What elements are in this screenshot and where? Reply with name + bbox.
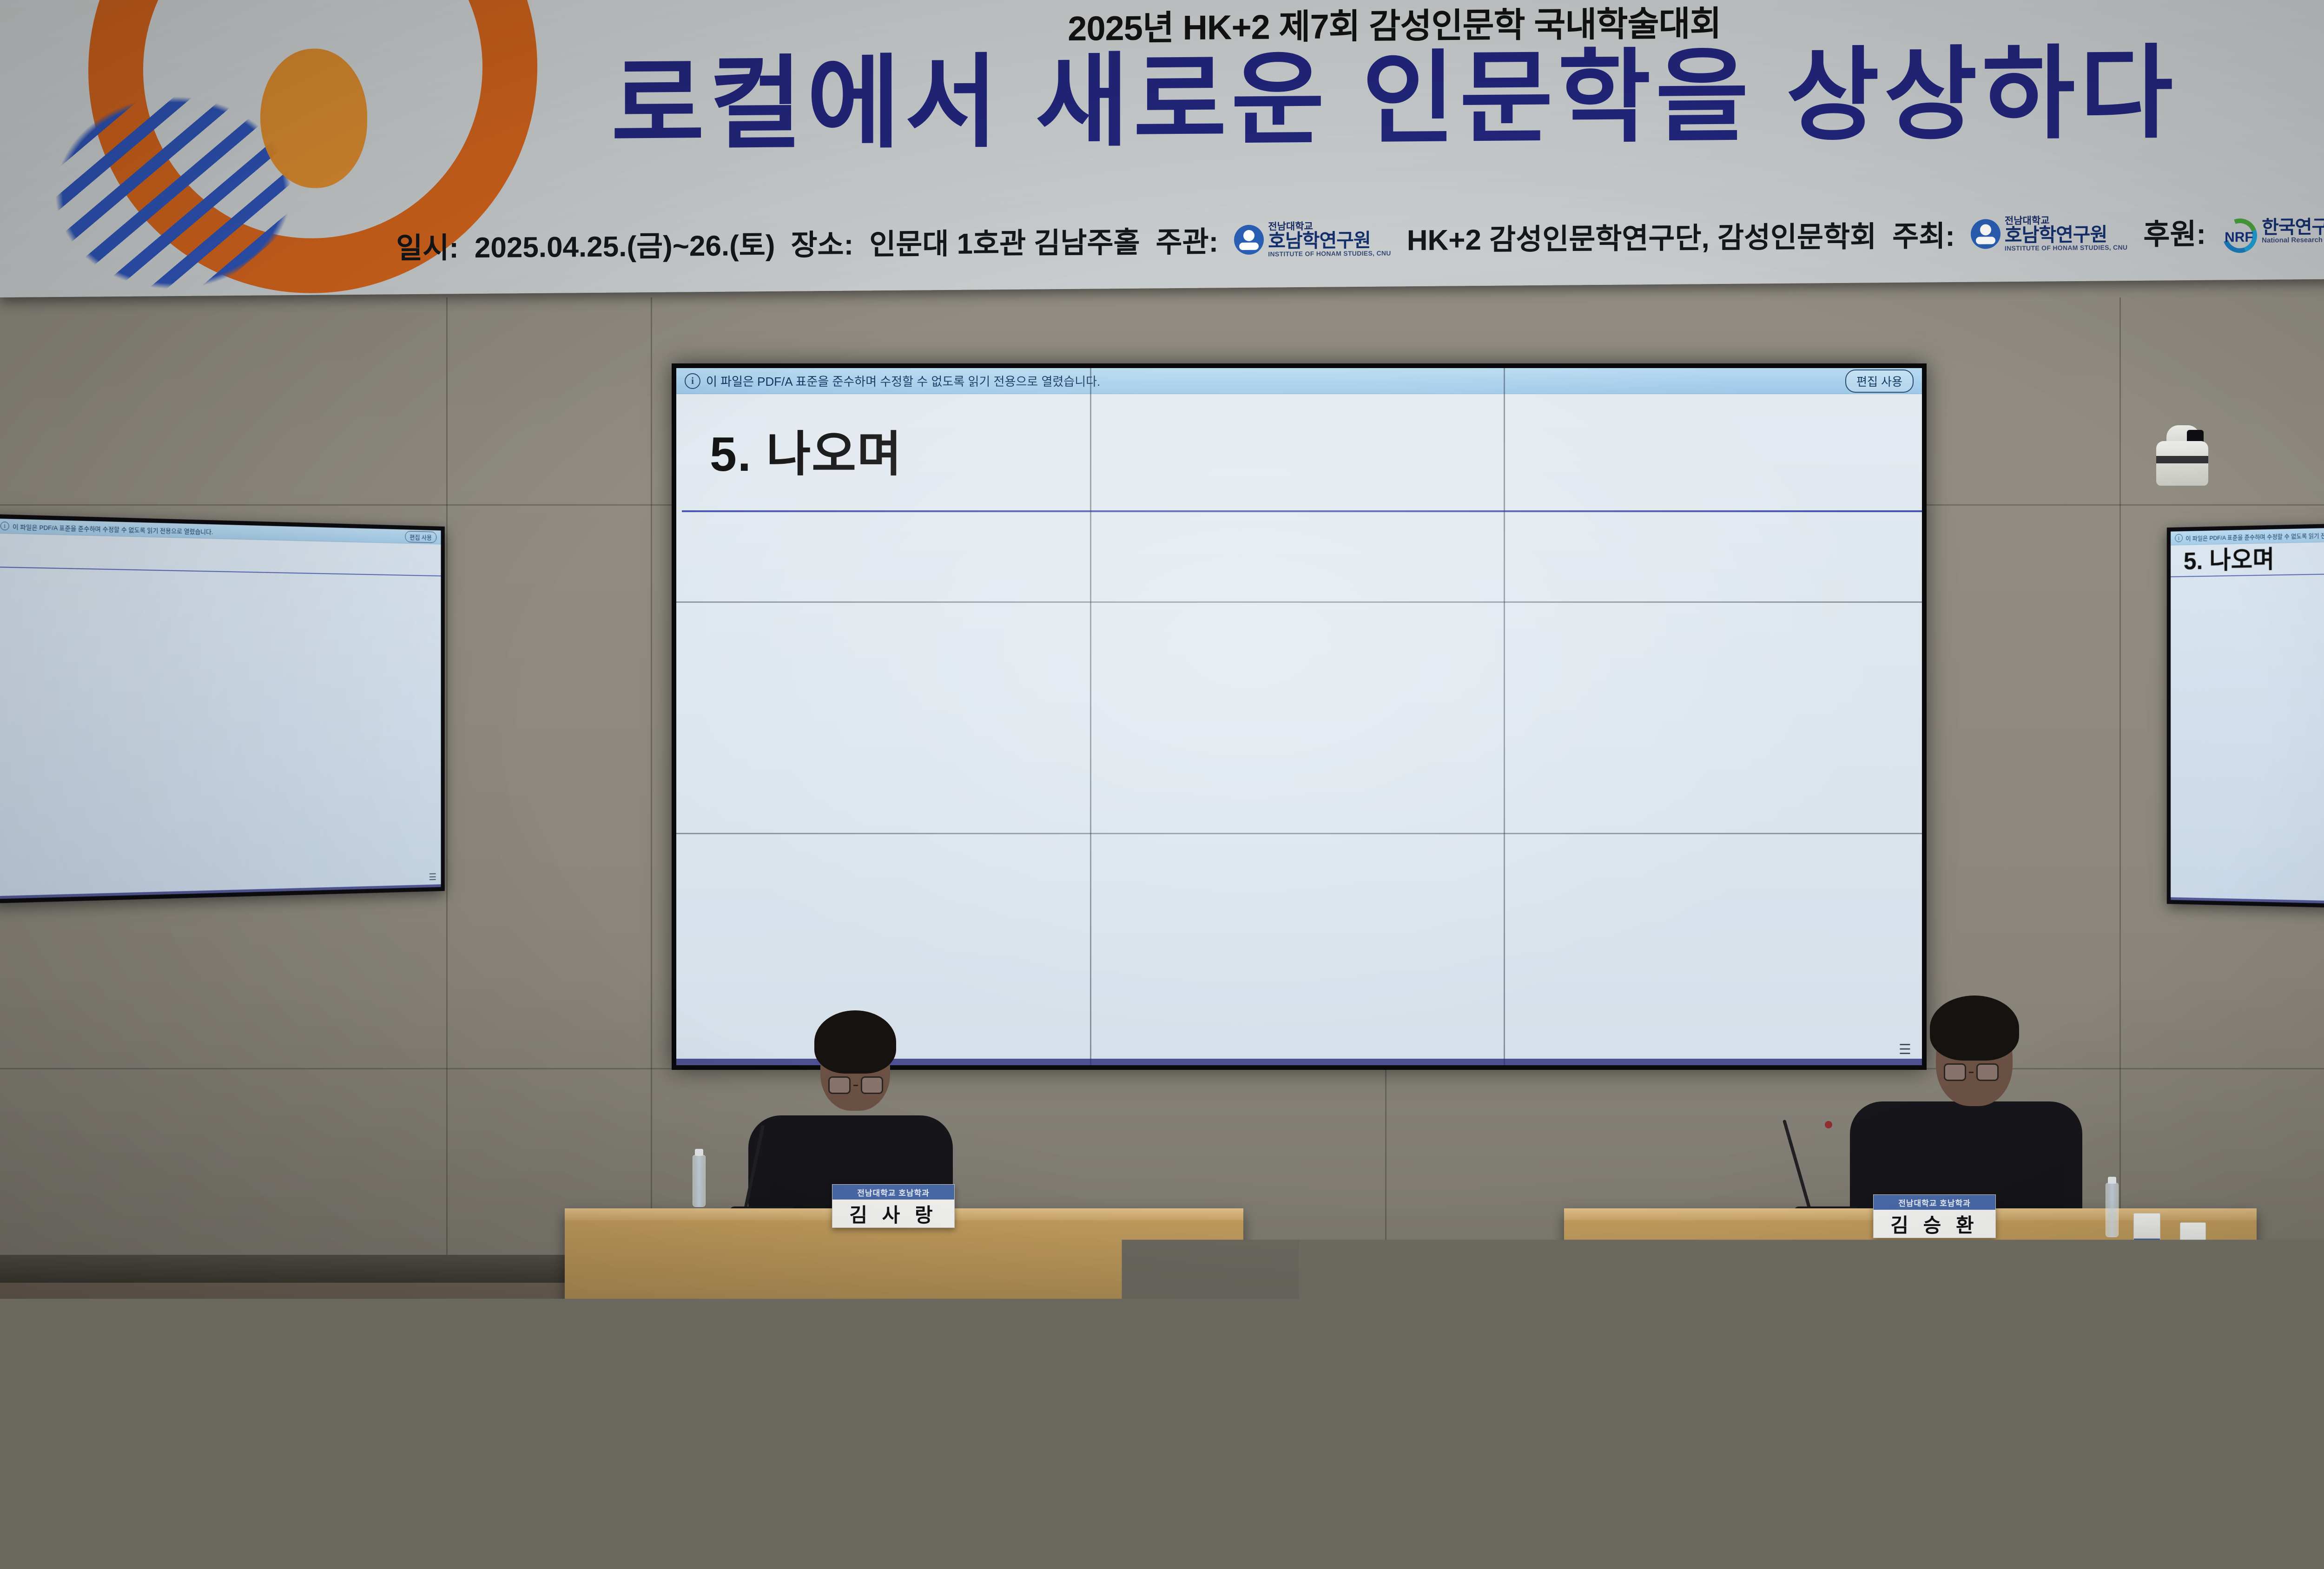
conference-hall-photo: 2025년 HK+2 제7회 감성인문학 국내학술대회 로컬에서 새로운 인문학…	[0, 0, 2324, 1569]
foreground-laptop-base	[0, 1538, 84, 1554]
conference-banner: 2025년 HK+2 제7회 감성인문학 국내학술대회 로컬에서 새로운 인문학…	[0, 0, 2324, 297]
nrf-wordmark: NRF	[2225, 230, 2253, 245]
banner-place-value: 인문대 1호관 김남주홀	[869, 219, 1140, 263]
organizer-logo: 전남대학교 호남학연구원 INSTITUTE OF HONAM STUDIES,…	[1971, 215, 2127, 252]
panelist-right-hair	[1930, 995, 2019, 1061]
panelist-right-glasses	[1944, 1063, 1999, 1081]
pdf-notice-bar: i 이 파일은 PDF/A 표준을 준수하며 수정할 수 없도록 읽기 전용으로…	[676, 368, 1922, 394]
floor-speaker-box	[1348, 1487, 1543, 1569]
host-org-main: 호남학연구원	[1268, 231, 1391, 251]
organizer-main: 호남학연구원	[2005, 225, 2127, 245]
foreground-laptop-screen	[0, 1404, 67, 1543]
banner-host-extra: HK+2 감성인문학연구단, 감성인문학회	[1407, 213, 1876, 258]
nameplate-right-affiliation: 전남대학교 호남학과	[1874, 1195, 1995, 1210]
wall-seam	[2119, 297, 2121, 1283]
right-monitor-slide-title: 5. 나오며	[2184, 539, 2274, 576]
honam-institute-mark-icon	[1234, 225, 1264, 255]
water-bottle-left-table	[693, 1155, 706, 1207]
info-icon: i	[0, 521, 9, 530]
banner-main-title: 로컬에서 새로운 인문학을 상상하다	[0, 34, 2324, 165]
honam-institute-logo: 전남대학교 호남학연구원 INSTITUTE OF HONAM STUDIES,…	[1234, 221, 1391, 257]
banner-place-label: 장소:	[791, 221, 854, 264]
ptz-camera-icon	[2150, 425, 2215, 486]
main-projection-videowall[interactable]: i 이 파일은 PDF/A 표준을 준수하며 수정할 수 없도록 읽기 전용으로…	[672, 363, 1927, 1070]
desk-label-plate	[251, 1501, 303, 1518]
banner-date-label: 일시:	[396, 224, 459, 266]
videowall-seam-vertical	[1504, 368, 1505, 1065]
paper-cup-2	[2180, 1222, 2206, 1254]
banner-sponsor-label: 후원:	[2143, 211, 2206, 253]
table-leg	[2226, 1366, 2233, 1476]
host-org-en: INSTITUTE OF HONAM STUDIES, CNU	[1268, 250, 1391, 257]
wall-seam	[446, 297, 448, 1283]
audience-head-right	[1910, 1336, 2078, 1569]
banner-host-label: 주관:	[1156, 218, 1219, 260]
microphone-right	[1794, 1120, 1859, 1222]
slide-content-area: 5. 나오며	[676, 394, 1922, 1065]
organizer-en: INSTITUTE OF HONAM STUDIES, CNU	[2005, 244, 2127, 251]
right-wall-monitor[interactable]: i 이 파일은 PDF/A 표준을 준수하며 수정할 수 없도록 읽기 전용으로…	[2167, 513, 2324, 919]
water-bottle-right-table	[2106, 1183, 2119, 1237]
sponsor-main: 한국연구재단	[2262, 217, 2324, 237]
nameplate-right-name: 김 승 환	[1874, 1210, 1995, 1238]
left-monitor-slide-rule	[0, 567, 441, 576]
audience-head-left	[495, 1362, 700, 1569]
enable-editing-button[interactable]: 편집 사용	[1845, 369, 1914, 393]
nameplate-right: 전남대학교 호남학과 김 승 환	[1873, 1194, 1996, 1238]
left-wall-monitor[interactable]: i 이 파일은 PDF/A 표준을 준수하며 수정할 수 없도록 읽기 전용으로…	[0, 514, 445, 903]
nrf-logo: NRF 한국연구재단 National Research Foundation …	[2222, 217, 2324, 245]
water-bottle-foreground	[78, 1487, 104, 1569]
right-monitor-screen: i 이 파일은 PDF/A 표준을 준수하며 수정할 수 없도록 읽기 전용으로…	[2171, 517, 2324, 914]
videowall-screen: i 이 파일은 PDF/A 표준을 준수하며 수정할 수 없도록 읽기 전용으로…	[676, 368, 1922, 1065]
panelist-right	[1850, 985, 2092, 1227]
slide-title-underline	[682, 510, 1922, 512]
nameplate-left-name: 김 사 랑	[832, 1200, 954, 1228]
panelist-left-glasses	[828, 1076, 883, 1094]
nameplate-left: 전남대학교 호남학과 김 사 랑	[832, 1184, 955, 1228]
organizer-mark-icon	[1971, 219, 2000, 249]
info-icon: i	[685, 373, 700, 389]
info-icon: i	[2175, 534, 2183, 542]
sponsor-en: National Research Foundation of Korea	[2262, 236, 2324, 244]
pdf-notice-text: 이 파일은 PDF/A 표준을 준수하며 수정할 수 없도록 읽기 전용으로 열…	[706, 372, 1100, 389]
audience-chair-4	[2119, 1510, 2287, 1569]
videowall-seam-vertical	[1090, 368, 1091, 1065]
wall-seam	[651, 297, 652, 1283]
hand-cursor-icon: ☰	[429, 871, 437, 883]
left-monitor-screen: i 이 파일은 PDF/A 표준을 준수하며 수정할 수 없도록 읽기 전용으로…	[0, 519, 441, 899]
wall-seam	[1385, 1069, 1386, 1283]
nrf-mark-icon: NRF	[2222, 218, 2258, 245]
videowall-seam-horizontal	[676, 833, 1922, 834]
paper-cup-1	[2133, 1213, 2160, 1246]
left-monitor-pdf-notice-text: 이 파일은 PDF/A 표준을 준수하며 수정할 수 없도록 읽기 전용으로 열…	[13, 521, 213, 535]
slide-title: 5. 나오며	[710, 415, 903, 485]
banner-organizer-label: 주최:	[1892, 212, 1955, 255]
panelist-left-hair	[814, 1010, 896, 1074]
chair-armrest	[358, 1506, 374, 1569]
videowall-seam-horizontal	[676, 601, 1922, 603]
nameplate-left-affiliation: 전남대학교 호남학과	[832, 1185, 954, 1200]
banner-date-value: 2025.04.25.(금)~26.(토)	[475, 222, 775, 266]
left-monitor-edit-button[interactable]: 편집 사용	[405, 531, 436, 543]
